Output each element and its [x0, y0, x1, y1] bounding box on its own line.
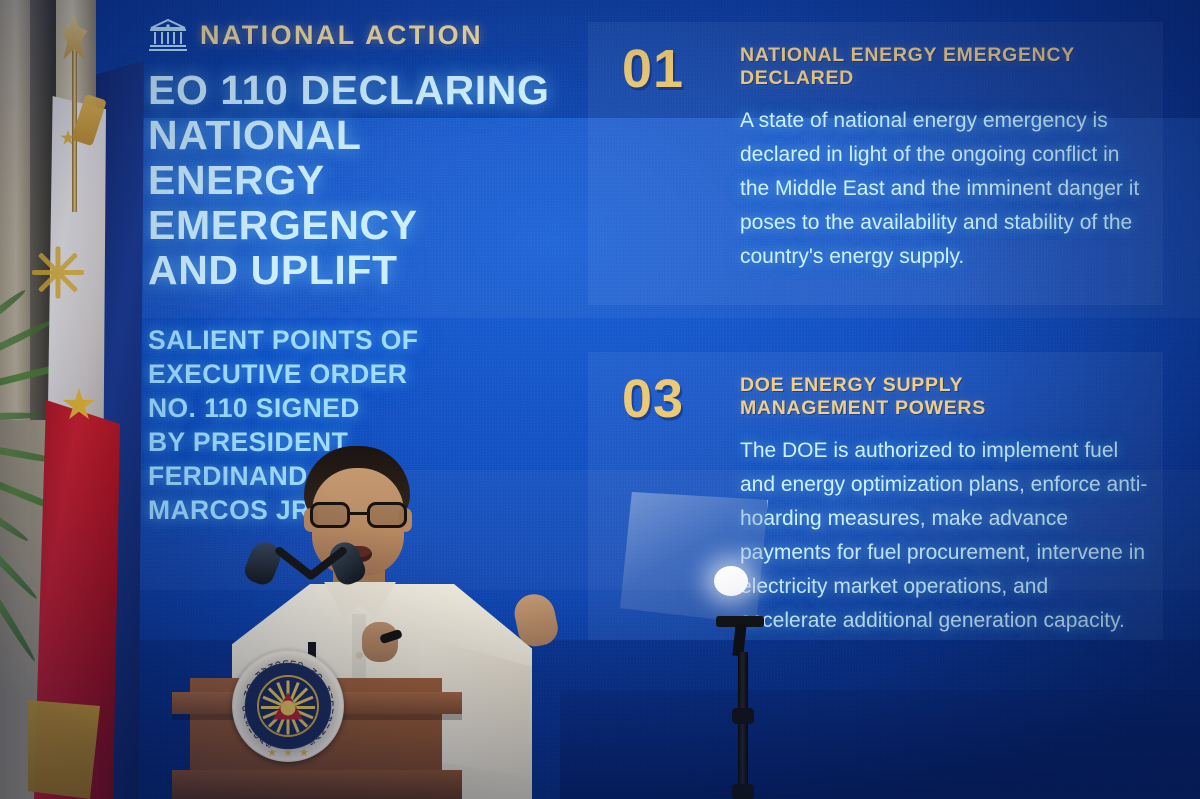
seal-ring-letter: U: [281, 660, 288, 665]
presidential-seal: SAGISAG NG PANGULO NG PILIPINAS: [232, 650, 344, 762]
teleprompter: [612, 492, 832, 799]
bank-institution-icon: [148, 16, 188, 54]
flag-sun: [38, 250, 82, 294]
stage-left-scene: [0, 0, 150, 799]
title-line: EMERGENCY: [148, 203, 578, 248]
card-heading-line: MANAGEMENT POWERS: [740, 397, 1149, 420]
title-line: NATIONAL: [148, 113, 578, 158]
seal-ring-letter: L: [330, 699, 334, 706]
seal-star: [268, 748, 277, 757]
subtitle-line: NO. 110 SIGNED: [148, 391, 578, 425]
seal-three-stars: [268, 748, 309, 757]
card-text-01: A state of national energy emergency is …: [740, 104, 1149, 274]
teleprompter-knob: [732, 708, 754, 724]
title-line: ENERGY: [148, 158, 578, 203]
card-number-03: 03: [622, 374, 718, 424]
speaker-shirt-button: [356, 652, 363, 659]
seal-ring-letter: S: [245, 720, 252, 728]
subtitle-line: SALIENT POINTS OF: [148, 323, 578, 357]
palm-frond: [0, 499, 30, 544]
card-heading-03: DOE ENERGY SUPPLY MANAGEMENT POWERS: [740, 374, 1149, 420]
seal-ring-letter: O: [295, 660, 303, 668]
palm-frond: [0, 412, 40, 421]
slide-kicker: NATIONAL ACTION: [148, 16, 578, 54]
eyeglass-lens-right: [367, 502, 407, 528]
seal-ring-letter: I: [326, 722, 331, 729]
teleprompter-glass-panel: [620, 492, 768, 624]
teleprompter-light-flare: [714, 566, 748, 596]
podium-base: [172, 770, 462, 799]
slide-card-01: 01 NATIONAL ENERGY EMERGENCY DECLARED A …: [588, 22, 1163, 305]
seal-ring-letter: P: [327, 714, 334, 722]
seal-ring-letter: S: [309, 738, 317, 746]
seal-ring-letter: G: [273, 661, 281, 668]
seal-sea-lion: [281, 701, 296, 716]
seal-ring-letter: I: [248, 728, 253, 735]
seal-star: [300, 748, 309, 757]
speaker-eyeglasses: [310, 502, 407, 528]
subtitle-line: EXECUTIVE ORDER: [148, 357, 578, 391]
seal-ring-letter: I: [331, 707, 334, 714]
card-heading-line: DOE ENERGY SUPPLY: [740, 374, 1149, 397]
seal-star: [284, 748, 293, 757]
seal-ring-letter: I: [330, 691, 333, 698]
slide-kicker-label: NATIONAL ACTION: [200, 20, 483, 51]
eyeglass-bridge: [350, 512, 367, 515]
teleprompter-pole: [738, 652, 748, 799]
seal-ring-letter: A: [243, 713, 249, 721]
seal-ring-letter: G: [315, 671, 324, 680]
microphone-head-left: [241, 538, 285, 588]
speaker-left-hand: [362, 622, 398, 662]
card-heading-line: DECLARED: [740, 67, 1149, 90]
slide-title: EO 110 DECLARING NATIONAL ENERGY EMERGEN…: [148, 68, 578, 293]
card-number-01: 01: [622, 44, 718, 94]
card-heading-line: NATIONAL ENERGY EMERGENCY: [740, 44, 1149, 67]
podium: SAGISAG NG PANGULO NG PILIPINAS: [172, 678, 462, 799]
title-line: EO 110 DECLARING: [148, 68, 578, 113]
screenshot-stage: 01 NATIONAL ENERGY EMERGENCY DECLARED A …: [0, 0, 1200, 799]
seal-ring-letter: G: [242, 706, 247, 713]
teleprompter-knob: [732, 784, 754, 799]
title-line: AND UPLIFT: [148, 248, 578, 293]
eyeglass-lens-left: [310, 502, 350, 528]
seal-inner-disc: [257, 675, 319, 737]
flag-gold-fringe: [28, 700, 100, 799]
card-heading-01: NATIONAL ENERGY EMERGENCY DECLARED: [740, 44, 1149, 90]
